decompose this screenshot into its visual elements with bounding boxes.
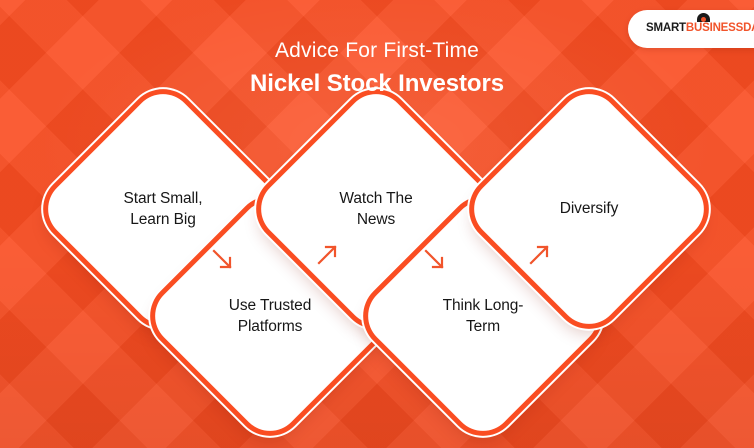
logo-text-businessdaily: BUSINESSDAILY bbox=[686, 23, 754, 35]
arrow-down-right-icon bbox=[423, 248, 449, 274]
arrow-up-right-icon bbox=[528, 244, 554, 270]
arch-dot-icon bbox=[697, 13, 710, 22]
logo-text-smart: SMART bbox=[646, 23, 686, 35]
arrow-up-right-icon bbox=[316, 244, 342, 270]
logo-wordmark: SMARTBUSINESSDAILY bbox=[646, 23, 754, 35]
page-title: Advice For First-Time Nickel Stock Inves… bbox=[0, 38, 754, 99]
title-line-2: Nickel Stock Investors bbox=[0, 68, 754, 99]
advice-card-label: Diversify bbox=[499, 119, 679, 299]
arrow-down-right-icon bbox=[211, 248, 237, 274]
advice-card-diversify[interactable]: Diversify bbox=[462, 82, 717, 337]
title-line-1: Advice For First-Time bbox=[0, 38, 754, 65]
infographic-canvas: SMARTBUSINESSDAILY Advice For First-Time… bbox=[0, 0, 754, 448]
